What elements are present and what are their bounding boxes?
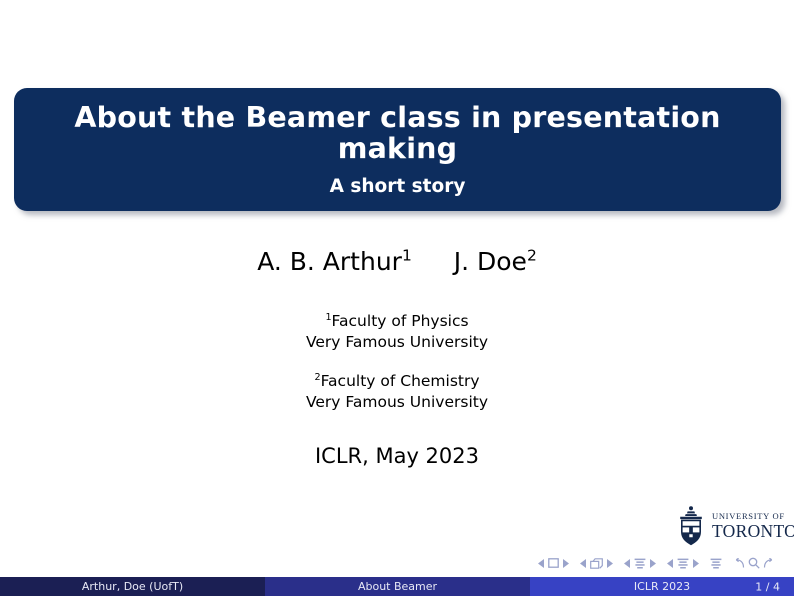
logo-line-toronto: TORONTO bbox=[712, 523, 794, 541]
author-1: A. B. Arthur1 bbox=[257, 247, 412, 276]
forward-icon[interactable] bbox=[763, 558, 775, 569]
search-icon[interactable] bbox=[748, 557, 760, 569]
appendix-icon[interactable] bbox=[710, 558, 722, 569]
footer-event-section: ICLR 2023 1 / 4 bbox=[530, 577, 794, 596]
affiliation-2-institution: Very Famous University bbox=[0, 392, 794, 413]
uoft-logo-text: UNIVERSITY OF TORONTO bbox=[712, 512, 794, 540]
slide-icon[interactable] bbox=[548, 558, 559, 568]
beamer-title-slide: About the Beamer class in presentation m… bbox=[0, 0, 794, 596]
slide-prev-icon[interactable] bbox=[538, 559, 545, 568]
title-block: About the Beamer class in presentation m… bbox=[14, 88, 781, 211]
slide-next-icon[interactable] bbox=[562, 559, 569, 568]
author-2-name: J. Doe bbox=[454, 247, 527, 276]
section-nav-group bbox=[667, 558, 699, 569]
slide-nav-group bbox=[538, 558, 569, 568]
authors-line: A. B. Arthur1 J. Doe2 bbox=[0, 248, 794, 277]
university-logo: UNIVERSITY OF TORONTO bbox=[676, 503, 788, 549]
author-1-marker: 1 bbox=[402, 247, 412, 265]
author-1-name: A. B. Arthur bbox=[257, 247, 402, 276]
navigation-symbols bbox=[538, 554, 782, 572]
footer-title: About Beamer bbox=[265, 577, 530, 596]
affiliation-1-institution: Very Famous University bbox=[0, 332, 794, 353]
author-2: J. Doe2 bbox=[454, 247, 537, 276]
affiliation-1: 1Faculty of Physics Very Famous Universi… bbox=[0, 311, 794, 354]
appendix-nav-group bbox=[710, 558, 722, 569]
footer-page-number: 1 / 4 bbox=[755, 580, 780, 593]
footer-event: ICLR 2023 bbox=[634, 580, 690, 593]
footer-author: Arthur, Doe (UofT) bbox=[0, 577, 265, 596]
section-next-icon[interactable] bbox=[692, 559, 699, 568]
date-line: ICLR, May 2023 bbox=[0, 444, 794, 468]
frame-prev-icon[interactable] bbox=[580, 559, 587, 568]
affiliation-2-department: 2Faculty of Chemistry bbox=[0, 371, 794, 392]
frame-next-icon[interactable] bbox=[606, 559, 613, 568]
subsection-prev-icon[interactable] bbox=[624, 559, 631, 568]
footer-bar: Arthur, Doe (UofT) About Beamer ICLR 202… bbox=[0, 577, 794, 596]
page-subtitle: A short story bbox=[330, 177, 466, 197]
subsection-nav-group bbox=[624, 558, 656, 569]
doc-nav-group bbox=[733, 557, 775, 569]
section-icon[interactable] bbox=[677, 558, 689, 569]
affiliation-1-department: 1Faculty of Physics bbox=[0, 311, 794, 332]
section-prev-icon[interactable] bbox=[667, 559, 674, 568]
subsection-icon[interactable] bbox=[634, 558, 646, 569]
affiliations-block: 1Faculty of Physics Very Famous Universi… bbox=[0, 311, 794, 414]
page-title: About the Beamer class in presentation m… bbox=[14, 102, 781, 165]
subsection-next-icon[interactable] bbox=[649, 559, 656, 568]
back-icon[interactable] bbox=[733, 558, 745, 569]
frame-nav-group bbox=[580, 558, 613, 569]
author-2-marker: 2 bbox=[527, 247, 537, 265]
affiliation-2: 2Faculty of Chemistry Very Famous Univer… bbox=[0, 371, 794, 414]
uoft-crest-icon bbox=[676, 505, 706, 547]
frame-icon[interactable] bbox=[590, 558, 603, 569]
logo-line-university-of: UNIVERSITY OF bbox=[712, 512, 794, 521]
